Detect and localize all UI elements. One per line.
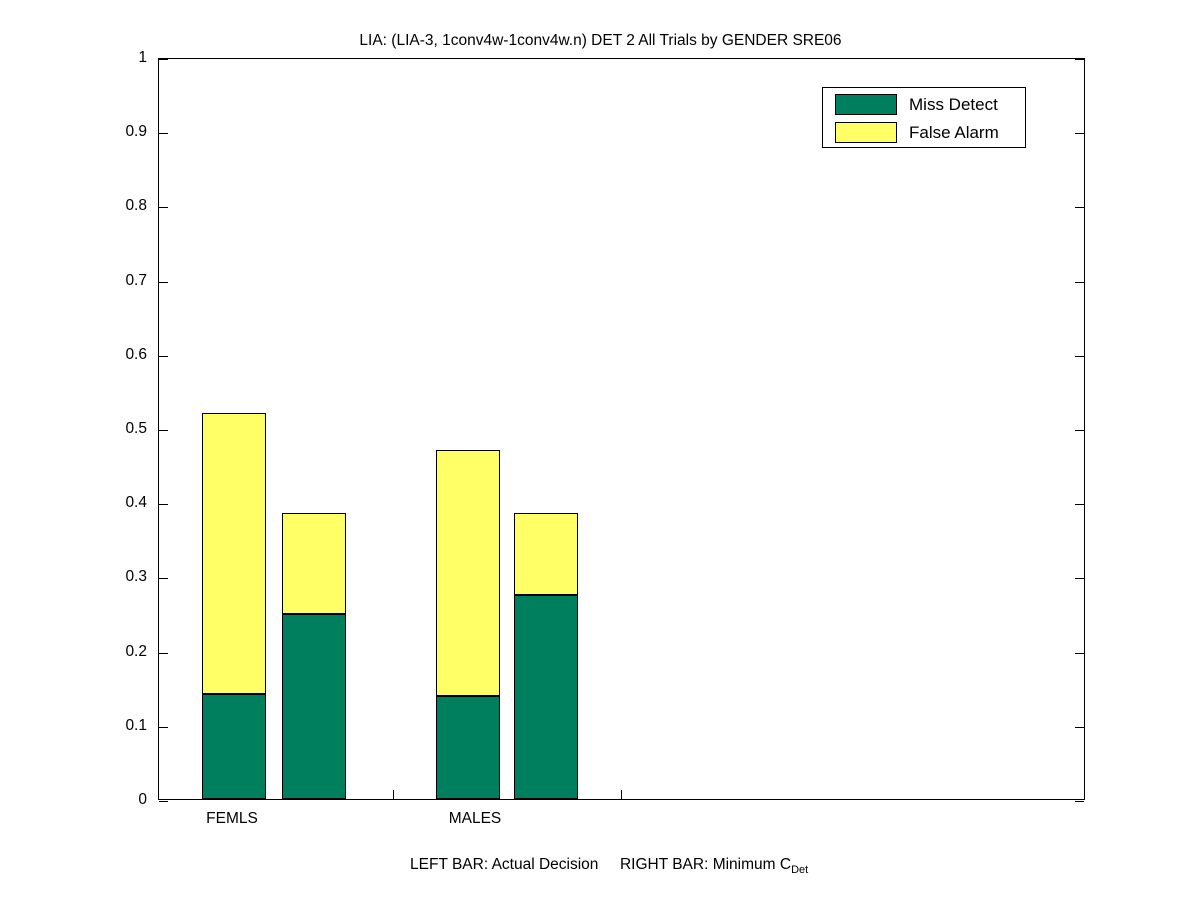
y-axis-tick-mark <box>159 801 168 802</box>
x-axis-tick-mark <box>393 790 394 799</box>
y-axis-tick-label: 0.3 <box>95 569 147 585</box>
bar-segment-miss-detect <box>436 696 500 799</box>
footer-spacer <box>598 856 620 873</box>
y-axis-tick-mark <box>159 207 168 208</box>
y-axis-tick-label: 0.7 <box>95 273 147 289</box>
y-axis-tick-mark <box>1075 801 1084 802</box>
y-axis-tick-label: 0.1 <box>95 718 147 734</box>
footer-annotation: LEFT BAR: Actual Decision RIGHT BAR: Min… <box>0 838 1201 897</box>
y-axis-tick-mark <box>1075 59 1084 60</box>
y-axis-tick-label: 1 <box>95 50 147 66</box>
bar-femls-minimum <box>282 513 346 799</box>
y-axis-tick-label: 0.8 <box>95 198 147 214</box>
y-axis-tick-mark <box>159 356 168 357</box>
y-axis-tick-label: 0 <box>95 792 147 808</box>
bar-segment-false-alarm <box>202 413 266 693</box>
y-axis-tick-mark <box>159 282 168 283</box>
y-axis-tick-mark <box>1075 430 1084 431</box>
footer-right-note-subscript: Det <box>791 864 808 876</box>
footer-left-note: LEFT BAR: Actual Decision <box>410 856 598 873</box>
y-axis-tick-mark <box>1075 282 1084 283</box>
y-axis-tick-mark <box>1075 356 1084 357</box>
y-axis-tick-mark <box>1075 133 1084 134</box>
legend-item: Miss Detect <box>823 91 1025 118</box>
bar-segment-false-alarm <box>436 450 500 696</box>
y-axis-tick-mark <box>1075 504 1084 505</box>
legend-label-miss-detect: Miss Detect <box>909 95 998 115</box>
plot-inner <box>159 59 1084 799</box>
y-axis-tick-mark <box>159 653 168 654</box>
y-axis-tick-label: 0.9 <box>95 124 147 140</box>
y-axis-tick-mark <box>159 430 168 431</box>
y-axis-tick-label: 0.4 <box>95 495 147 511</box>
bar-segment-false-alarm <box>282 513 346 613</box>
y-axis-tick-mark <box>159 727 168 728</box>
y-axis-tick-label: 0.2 <box>95 644 147 660</box>
footer-right-note: RIGHT BAR: Minimum C <box>620 856 791 873</box>
legend-swatch-miss-detect <box>835 94 897 115</box>
figure-canvas: LIA: (LIA-3, 1conv4w-1conv4w.n) DET 2 Al… <box>0 0 1201 900</box>
bar-segment-miss-detect <box>514 595 578 799</box>
y-axis-tick-mark <box>1075 578 1084 579</box>
x-axis-tick-label-femls: FEMLS <box>206 811 258 827</box>
x-axis-tick-label-males: MALES <box>449 811 502 827</box>
y-axis-tick-mark <box>159 504 168 505</box>
y-axis-tick-mark <box>159 59 168 60</box>
bar-males-minimum <box>514 513 578 799</box>
legend-label-false-alarm: False Alarm <box>909 123 999 143</box>
y-axis-tick-mark <box>159 133 168 134</box>
y-axis-tick-mark <box>1075 653 1084 654</box>
page-title: LIA: (LIA-3, 1conv4w-1conv4w.n) DET 2 Al… <box>0 32 1201 50</box>
bar-femls-actual <box>202 413 266 799</box>
bar-segment-miss-detect <box>282 614 346 800</box>
bar-segment-false-alarm <box>514 513 578 595</box>
y-axis-tick-mark <box>1075 207 1084 208</box>
x-axis-tick-mark <box>621 790 622 799</box>
legend-swatch-false-alarm <box>835 122 897 143</box>
plot-area <box>158 58 1085 800</box>
y-axis-tick-label: 0.6 <box>95 347 147 363</box>
y-axis-tick-label: 0.5 <box>95 421 147 437</box>
bar-males-actual <box>436 450 500 799</box>
chart-legend: Miss Detect False Alarm <box>822 87 1026 148</box>
y-axis-tick-mark <box>1075 727 1084 728</box>
legend-item: False Alarm <box>823 119 1025 146</box>
y-axis-tick-mark <box>159 578 168 579</box>
bar-segment-miss-detect <box>202 694 266 799</box>
